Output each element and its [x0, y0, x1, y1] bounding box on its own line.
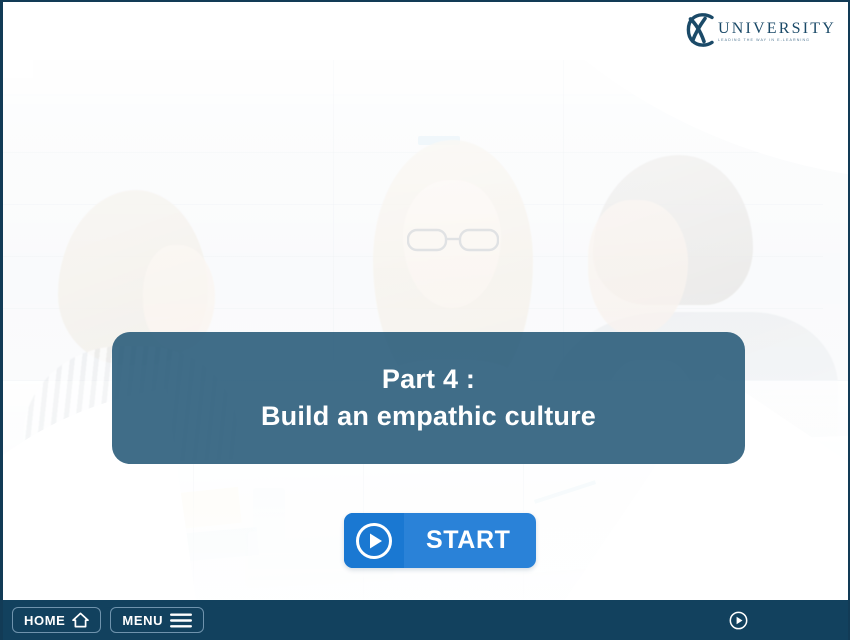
eyeglasses-icon	[407, 228, 499, 252]
start-button-label: START	[404, 526, 510, 555]
hamburger-icon	[170, 613, 192, 628]
start-icon-container	[344, 513, 404, 568]
menu-button-label: MENU	[122, 613, 163, 628]
university-logo: UNIVERSITY LEADING THE WAY IN E-LEARNING	[681, 9, 836, 51]
title-line-2: Build an empathic culture	[261, 398, 596, 435]
bottom-navigation-bar: HOME MENU	[3, 600, 848, 640]
title-line-1: Part 4 :	[382, 361, 475, 398]
menu-button[interactable]: MENU	[110, 607, 204, 633]
x-in-circle-logo-icon	[681, 10, 721, 50]
logo-text: UNIVERSITY LEADING THE WAY IN E-LEARNING	[718, 17, 836, 43]
start-button[interactable]: START	[344, 513, 536, 568]
logo-wordmark: UNIVERSITY	[718, 21, 836, 37]
home-button[interactable]: HOME	[12, 607, 101, 633]
slide-stage: Part 4 : Build an empathic culture START	[3, 60, 848, 602]
house-icon	[72, 612, 89, 628]
title-card: Part 4 : Build an empathic culture	[112, 332, 745, 464]
header-bar: UNIVERSITY LEADING THE WAY IN E-LEARNING	[3, 2, 848, 60]
bottom-play-button[interactable]	[729, 611, 748, 630]
play-circle-icon	[354, 521, 394, 561]
logo-tagline: LEADING THE WAY IN E-LEARNING	[718, 39, 836, 43]
home-button-label: HOME	[24, 613, 65, 628]
slide-root: UNIVERSITY LEADING THE WAY IN E-LEARNING	[0, 0, 850, 640]
